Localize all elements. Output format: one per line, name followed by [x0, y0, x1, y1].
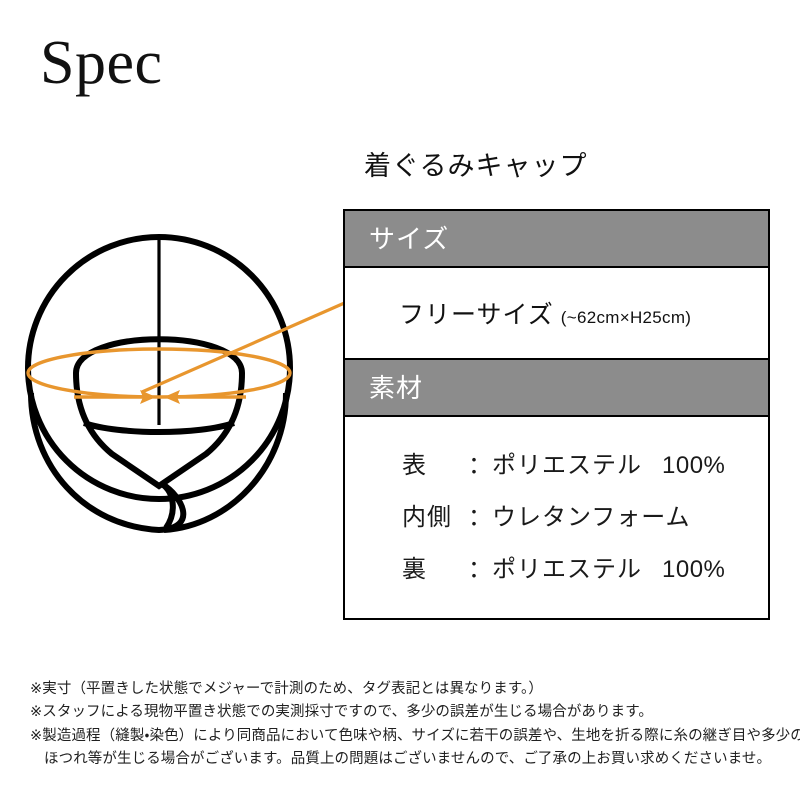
cap-top-view-diagram: [14, 196, 354, 606]
product-illustration: [14, 196, 354, 606]
size-leader-line: [142, 301, 349, 392]
spec-table: サイズ フリーサイズ(~62cm×H25cm) 素材 表：ポリエステル100% …: [343, 209, 770, 620]
material-colon: ：: [468, 497, 492, 532]
spec-section-header-size: サイズ: [345, 211, 768, 268]
material-row: 表：ポリエステル100%: [345, 445, 768, 480]
footnotes: ※実寸（平置きした状態でメジャーで計測のため、タグ表記とは異なります。） ※スタ…: [30, 678, 775, 772]
material-row: 内側：ウレタンフォーム: [345, 497, 768, 532]
material-label: 内側: [402, 497, 468, 532]
spec-section-body-size: フリーサイズ(~62cm×H25cm): [345, 268, 768, 360]
footnote-line: ※スタッフによる現物平置き状態での実測採寸ですので、多少の誤差が生じる場合があり…: [30, 701, 775, 724]
footnote-line: ※実寸（平置きした状態でメジャーで計測のため、タグ表記とは異なります。）: [30, 678, 775, 701]
material-percentage: 100%: [662, 556, 725, 584]
cap-fold-tail: [162, 484, 173, 528]
material-label: 裏: [402, 549, 468, 584]
material-colon: ：: [468, 549, 492, 584]
size-value-main: フリーサイズ: [399, 301, 554, 329]
material-value: ウレタンフォーム: [492, 497, 691, 532]
material-percentage: 100%: [662, 452, 725, 480]
size-value-dimensions: (~62cm×H25cm): [561, 308, 692, 327]
material-value: ポリエステル: [492, 549, 642, 584]
footnote-line: ※製造過程（縫製・染色）により同商品において色味や柄、サイズに若干の誤差や、生地…: [30, 725, 775, 748]
material-row: 裏：ポリエステル100%: [345, 549, 768, 584]
product-name: 着ぐるみキャップ: [364, 150, 587, 182]
footnote-line: ほつれ等が生じる場合がございます。品質上の問題はございませんので、ご了承の上お買…: [30, 748, 775, 771]
page-title: Spec: [40, 32, 163, 94]
material-colon: ：: [468, 445, 492, 480]
material-value: ポリエステル: [492, 445, 642, 480]
size-value-row: フリーサイズ(~62cm×H25cm): [345, 295, 691, 331]
spec-section-body-material: 表：ポリエステル100% 内側：ウレタンフォーム 裏：ポリエステル100%: [345, 417, 768, 618]
spec-section-header-material: 素材: [345, 360, 768, 417]
material-label: 表: [402, 445, 468, 480]
